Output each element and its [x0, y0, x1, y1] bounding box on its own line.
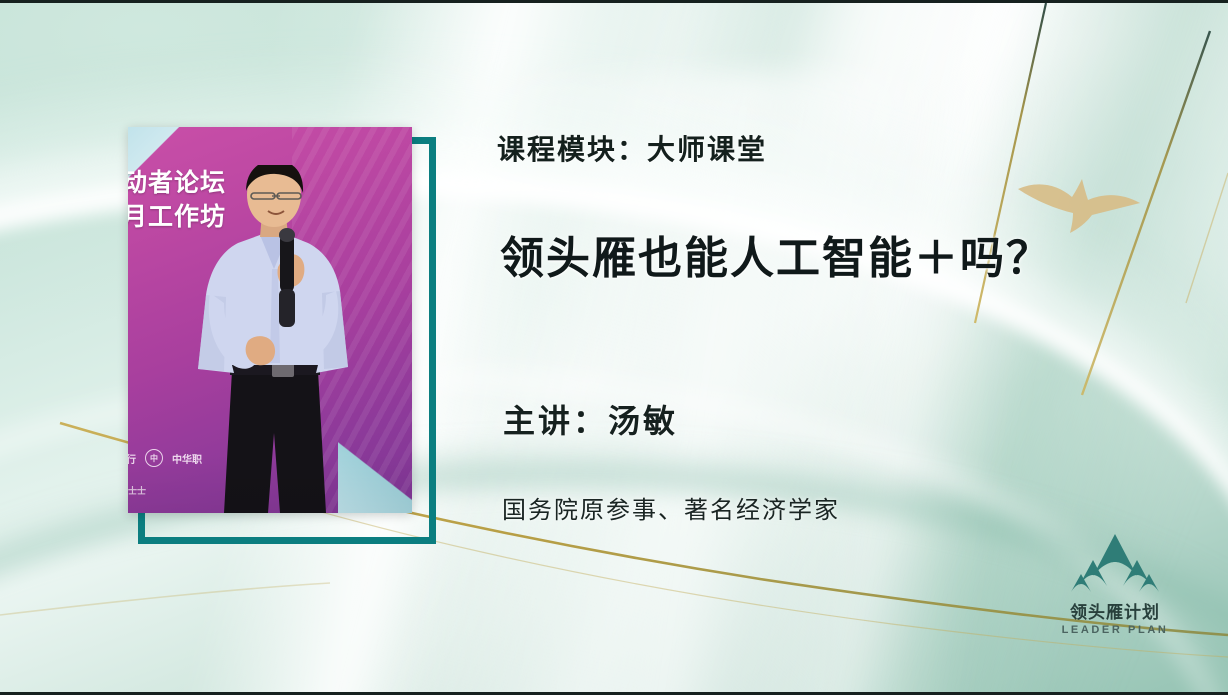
logo-name-en: LEADER PLAN — [1062, 624, 1169, 636]
speaker-photo-card: 动者论坛 月工作坊 — [128, 127, 412, 520]
logo-name-cn: 领头雁计划 — [1070, 598, 1160, 623]
speaker-photo: 动者论坛 月工作坊 — [128, 127, 412, 513]
brand-logo: 领头雁计划 LEADER PLAN — [1040, 532, 1190, 642]
course-module-label: 课程模块：大师课堂 — [497, 128, 767, 168]
letterbox-top — [0, 0, 1228, 3]
speaker-name: 主讲：汤敏 — [503, 396, 678, 442]
geese-triangle-icon — [1069, 532, 1161, 594]
speaker-credentials: 国务院原参事、著名经济学家 — [502, 490, 840, 525]
slide-canvas: 动者论坛 月工作坊 — [0, 0, 1228, 695]
page-title: 领头雁也能人工智能＋吗？ — [500, 222, 1052, 286]
photo-bottom-shade — [128, 453, 412, 513]
